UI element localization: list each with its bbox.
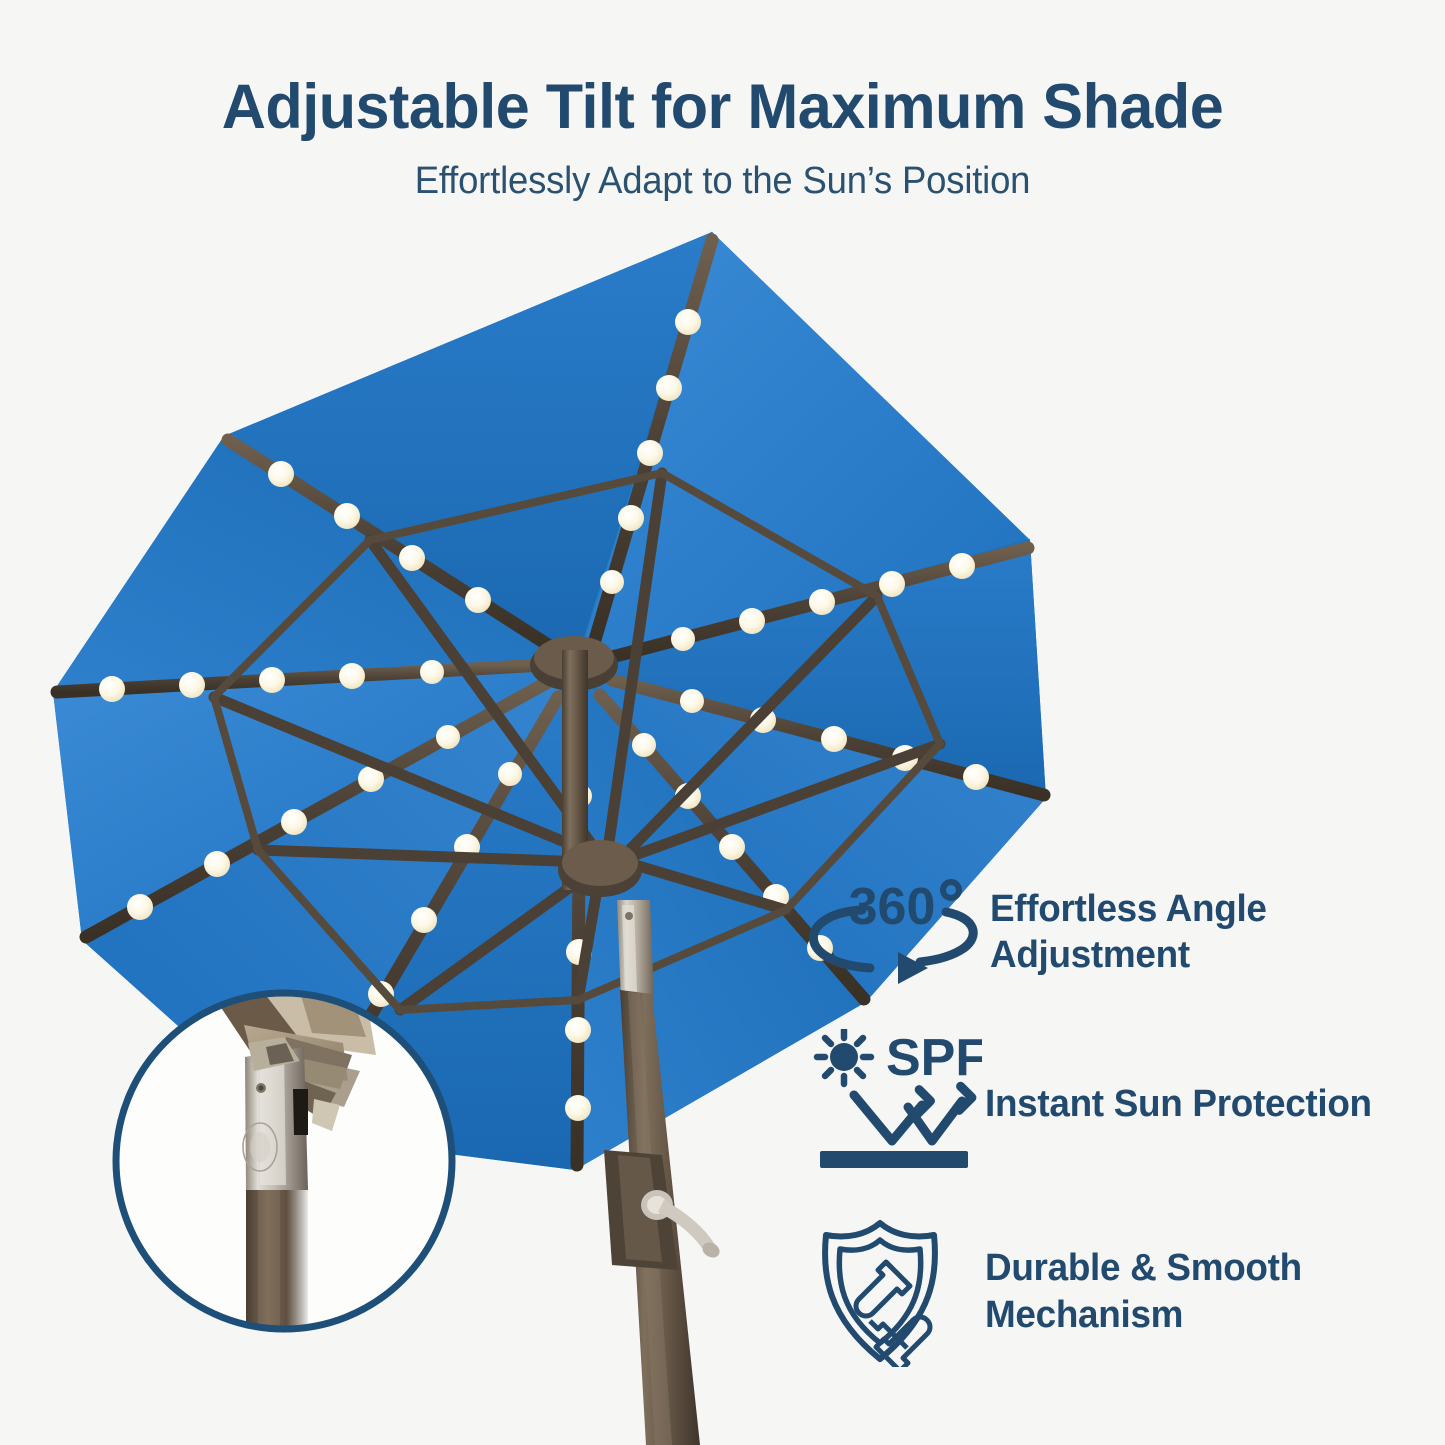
page-title: Adjustable Tilt for Maximum Shade (22, 74, 1424, 140)
tilt-collar (617, 900, 654, 1000)
tilt-mechanism-detail-callout (108, 985, 460, 1337)
feature-line-2: Adjustment (990, 932, 1267, 978)
feature-item-durable-mechanism: Durable & Smooth Mechanism (800, 1214, 1445, 1369)
header-block: Adjustable Tilt for Maximum Shade Effort… (0, 0, 1445, 203)
feature-line-1: Effortless Angle (990, 888, 1267, 930)
shield-wrench-icon (800, 1217, 985, 1367)
spf-label: SPF (886, 1029, 982, 1087)
feature-label-angle-adjustment: Effortless Angle Adjustment (990, 886, 1267, 979)
page-subtitle: Effortlessly Adapt to the Sun’s Position (29, 160, 1416, 203)
feature-item-angle-adjustment: 360 Effortless Angle Adjustment (800, 862, 1445, 1002)
feature-line-2: Mechanism (985, 1292, 1302, 1338)
crank-handle (604, 1150, 722, 1270)
spf-sun-protection-icon: SPF (800, 1029, 985, 1179)
detail-photo-content (108, 985, 460, 1337)
360-label: 360 (849, 878, 936, 936)
feature-label-sun-protection: Instant Sun Protection (985, 1081, 1372, 1127)
feature-line-1: Durable & Smooth (985, 1247, 1302, 1289)
feature-line-1: Instant Sun Protection (985, 1083, 1372, 1125)
360-rotation-icon: 360 (800, 876, 990, 988)
infographic-canvas: Adjustable Tilt for Maximum Shade Effort… (0, 0, 1445, 1445)
feature-item-sun-protection: SPF Instant Sun Protection (800, 1024, 1445, 1184)
umbrella-runner-hub (558, 840, 642, 897)
feature-label-durable-mechanism: Durable & Smooth Mechanism (985, 1245, 1302, 1338)
